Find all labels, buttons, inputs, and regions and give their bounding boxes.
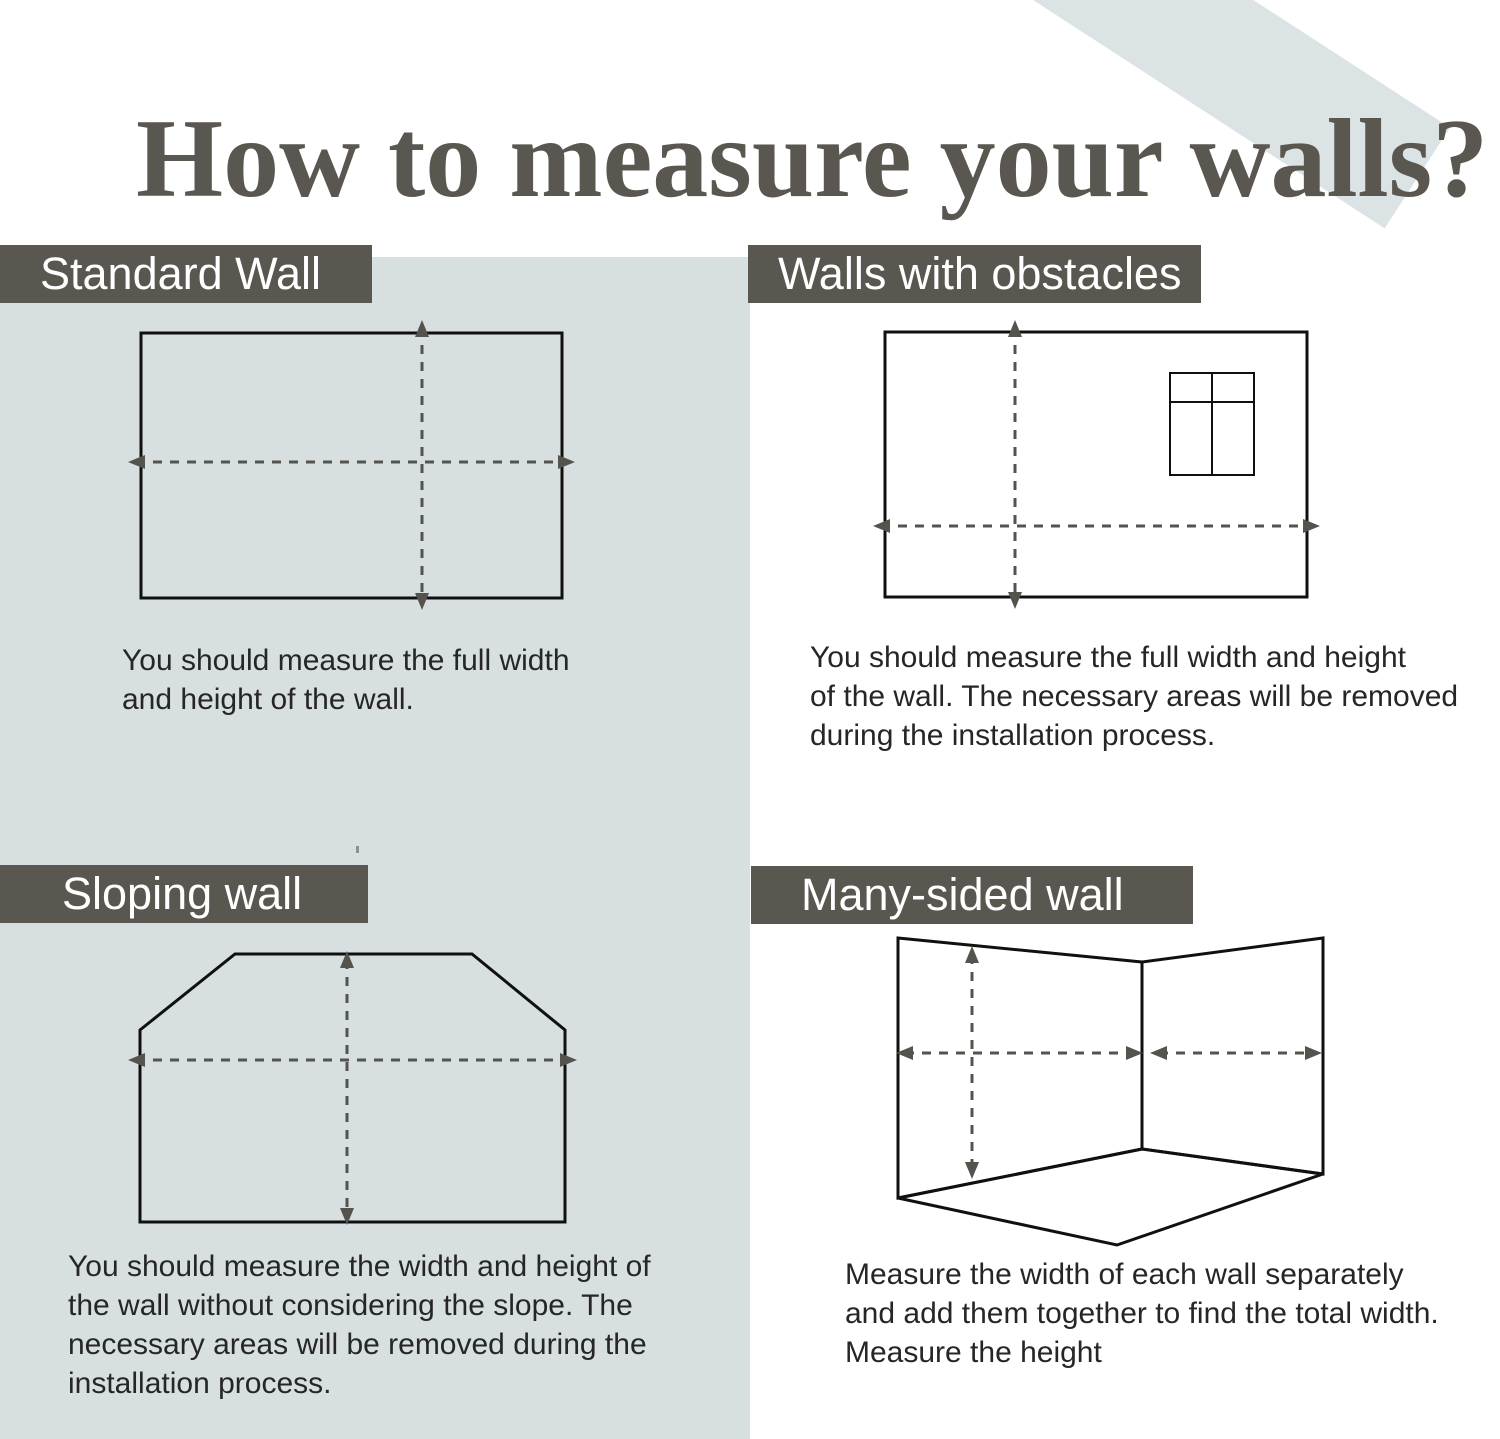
- section-heading-walls-with-obstacles: Walls with obstacles: [748, 245, 1201, 303]
- right-wall-face: [1142, 938, 1323, 1174]
- width-arrow-right-head: [560, 1053, 577, 1067]
- speck-artifact: [356, 846, 359, 853]
- height-arrow-up-head: [1008, 320, 1022, 337]
- wall-outline-sloped: [140, 954, 565, 1222]
- right-width-arrow-right-head: [1305, 1046, 1322, 1060]
- diagram-sloping-wall: [110, 930, 610, 1240]
- floor-face: [898, 1149, 1323, 1245]
- width-arrow-left-head: [128, 455, 145, 469]
- diagram-many-sided-wall: [860, 915, 1360, 1260]
- right-width-arrow-left-head: [1150, 1046, 1167, 1060]
- infographic-page: How to measure your walls? Standard Wall…: [0, 0, 1500, 1439]
- width-arrow-right-head: [558, 455, 575, 469]
- caption-many-sided-wall: Measure the width of each wall separatel…: [845, 1255, 1475, 1372]
- section-heading-standard-wall: Standard Wall: [0, 245, 372, 303]
- caption-walls-with-obstacles: You should measure the full width and he…: [810, 638, 1470, 755]
- wall-outline: [141, 333, 562, 598]
- width-arrow-right-head: [1303, 519, 1320, 533]
- width-arrow-left-head: [873, 519, 890, 533]
- caption-sloping-wall: You should measure the width and height …: [68, 1247, 688, 1403]
- section-heading-sloping-wall: Sloping wall: [0, 865, 368, 923]
- caption-standard-wall: You should measure the full width and he…: [122, 641, 642, 719]
- left-width-arrow-right-head: [1126, 1046, 1143, 1060]
- left-wall-face: [898, 938, 1142, 1198]
- height-arrow-down-head: [965, 1162, 979, 1179]
- height-arrow-down-head: [1008, 592, 1022, 609]
- page-title: How to measure your walls?: [136, 101, 1488, 219]
- diagram-standard-wall: [110, 310, 610, 620]
- height-arrow-up-head: [415, 320, 429, 337]
- height-arrow-up-head: [965, 946, 979, 963]
- wall-outline: [885, 332, 1307, 597]
- window-obstacle: [1170, 373, 1254, 475]
- width-arrow-left-head: [128, 1053, 145, 1067]
- height-arrow-down-head: [415, 593, 429, 610]
- diagram-walls-with-obstacles: [855, 310, 1355, 620]
